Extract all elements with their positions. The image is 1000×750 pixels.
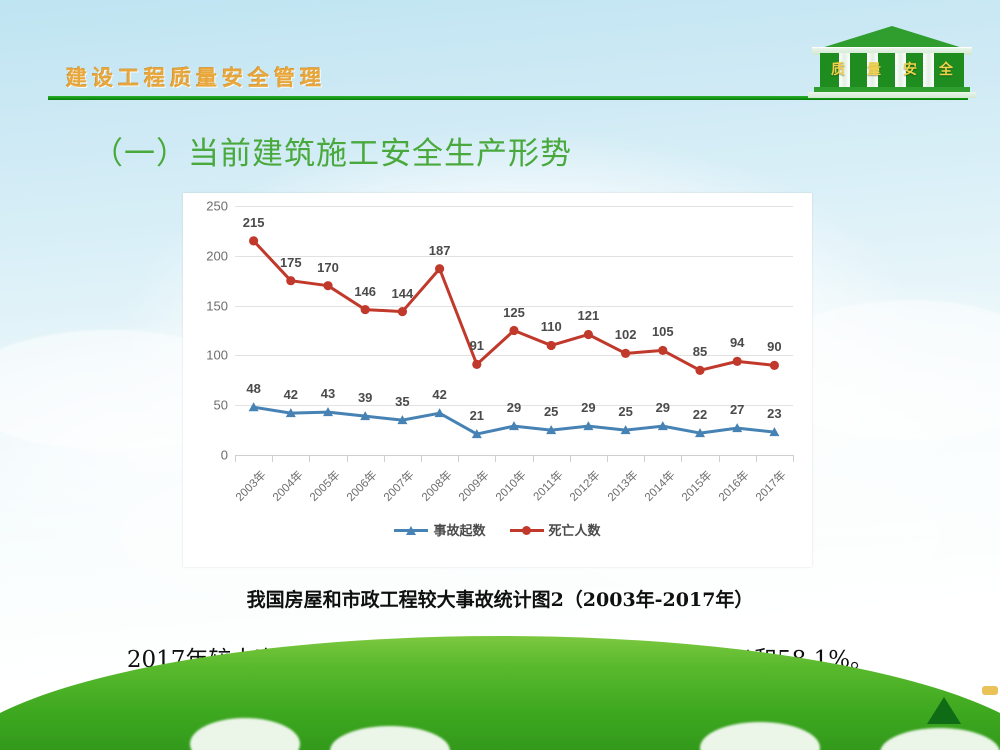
legend-swatch-icon bbox=[510, 524, 544, 536]
data-point-label: 94 bbox=[730, 335, 744, 350]
data-point-label: 85 bbox=[693, 344, 707, 359]
x-axis-tick-mark bbox=[607, 455, 608, 462]
logo-plinth bbox=[808, 92, 976, 98]
data-point-marker bbox=[621, 349, 630, 358]
data-point-label: 29 bbox=[656, 400, 670, 415]
data-point-label: 22 bbox=[693, 407, 707, 422]
legend-label: 死亡人数 bbox=[549, 520, 601, 539]
x-axis-tick-mark bbox=[235, 455, 236, 462]
data-point-label: 25 bbox=[618, 404, 632, 419]
data-point-marker bbox=[323, 281, 332, 290]
data-point-label: 102 bbox=[615, 327, 637, 342]
x-axis-tick-mark bbox=[384, 455, 385, 462]
quality-safety-building-logo: 质 量 安 全 bbox=[806, 26, 978, 100]
legend-item[interactable]: 死亡人数 bbox=[510, 520, 601, 539]
data-point-marker bbox=[733, 357, 742, 366]
y-axis-tick-label: 250 bbox=[206, 199, 228, 214]
data-point-label: 175 bbox=[280, 255, 302, 270]
data-point-label: 110 bbox=[541, 319, 562, 334]
data-point-label: 91 bbox=[470, 338, 484, 353]
legend-swatch-icon bbox=[394, 524, 428, 536]
data-point-label: 21 bbox=[470, 408, 484, 423]
data-point-marker bbox=[249, 236, 258, 245]
logo-roof-icon bbox=[818, 26, 966, 49]
data-point-label: 125 bbox=[503, 305, 525, 320]
y-axis-tick-label: 100 bbox=[206, 348, 228, 363]
x-axis-tick-mark bbox=[309, 455, 310, 462]
x-axis-line bbox=[235, 455, 793, 456]
data-point-label: 42 bbox=[432, 387, 446, 402]
x-axis-tick-mark bbox=[458, 455, 459, 462]
data-point-label: 29 bbox=[507, 400, 521, 415]
corner-accent-decoration bbox=[982, 686, 998, 695]
data-point-label: 27 bbox=[730, 402, 744, 417]
data-point-label: 42 bbox=[284, 387, 298, 402]
data-point-marker bbox=[770, 361, 779, 370]
chart-panel: 050100150200250 事故起数死亡人数 2003年2004年2005年… bbox=[183, 193, 812, 567]
slide-canvas: 建设工程质量安全管理 质 量 安 全 （一）当前建筑施工安全生产形势 05010… bbox=[0, 0, 1000, 750]
data-point-marker bbox=[695, 366, 704, 375]
data-point-label: 90 bbox=[767, 339, 781, 354]
data-point-marker bbox=[584, 330, 593, 339]
x-axis-tick-mark bbox=[570, 455, 571, 462]
data-point-label: 215 bbox=[243, 215, 265, 230]
data-point-label: 187 bbox=[429, 243, 451, 258]
x-axis-tick-mark bbox=[681, 455, 682, 462]
data-point-label: 48 bbox=[246, 381, 260, 396]
x-axis-tick-mark bbox=[495, 455, 496, 462]
data-point-label: 105 bbox=[652, 324, 674, 339]
x-axis-tick-mark bbox=[533, 455, 534, 462]
data-point-label: 23 bbox=[767, 406, 781, 421]
data-point-label: 144 bbox=[392, 286, 414, 301]
data-point-marker bbox=[398, 307, 407, 316]
y-axis-tick-label: 50 bbox=[214, 398, 228, 413]
data-point-label: 43 bbox=[321, 386, 335, 401]
data-point-marker bbox=[547, 341, 556, 350]
data-point-label: 35 bbox=[395, 394, 409, 409]
legend-label: 事故起数 bbox=[433, 520, 485, 539]
header-title: 建设工程质量安全管理 bbox=[66, 62, 326, 92]
data-point-label: 29 bbox=[581, 400, 595, 415]
data-point-marker bbox=[361, 305, 370, 314]
y-axis-tick-label: 150 bbox=[206, 298, 228, 313]
page-title: （一）当前建筑施工安全生产形势 bbox=[92, 128, 572, 173]
x-axis-tick-mark bbox=[756, 455, 757, 462]
x-axis-tick-mark bbox=[793, 455, 794, 462]
x-axis-tick-mark bbox=[719, 455, 720, 462]
chart-legend: 事故起数死亡人数 bbox=[183, 520, 812, 539]
data-point-label: 170 bbox=[317, 260, 339, 275]
data-point-marker bbox=[286, 276, 295, 285]
chart-series-svg bbox=[235, 206, 793, 458]
y-axis-tick-label: 200 bbox=[206, 248, 228, 263]
logo-char: 全 bbox=[939, 59, 953, 79]
data-point-label: 146 bbox=[354, 284, 376, 299]
data-point-marker bbox=[472, 360, 481, 369]
data-point-label: 121 bbox=[578, 308, 600, 323]
logo-text: 质 量 安 全 bbox=[820, 59, 964, 79]
data-point-marker bbox=[435, 264, 444, 273]
y-axis-tick-label: 0 bbox=[221, 448, 228, 463]
logo-char: 质 bbox=[831, 59, 845, 79]
x-axis-tick-mark bbox=[421, 455, 422, 462]
data-point-label: 25 bbox=[544, 404, 558, 419]
data-point-marker bbox=[658, 346, 667, 355]
data-point-marker bbox=[509, 326, 518, 335]
legend-item[interactable]: 事故起数 bbox=[394, 520, 485, 539]
logo-char: 安 bbox=[903, 59, 917, 79]
chart-caption: 我国房屋和市政工程较大事故统计图2（2003年-2017年） bbox=[0, 585, 1000, 612]
x-axis-tick-mark bbox=[272, 455, 273, 462]
logo-char: 量 bbox=[867, 59, 881, 79]
x-axis-tick-mark bbox=[347, 455, 348, 462]
x-axis-tick-mark bbox=[644, 455, 645, 462]
data-point-label: 39 bbox=[358, 390, 372, 405]
next-slide-triangle-icon[interactable] bbox=[927, 697, 961, 724]
